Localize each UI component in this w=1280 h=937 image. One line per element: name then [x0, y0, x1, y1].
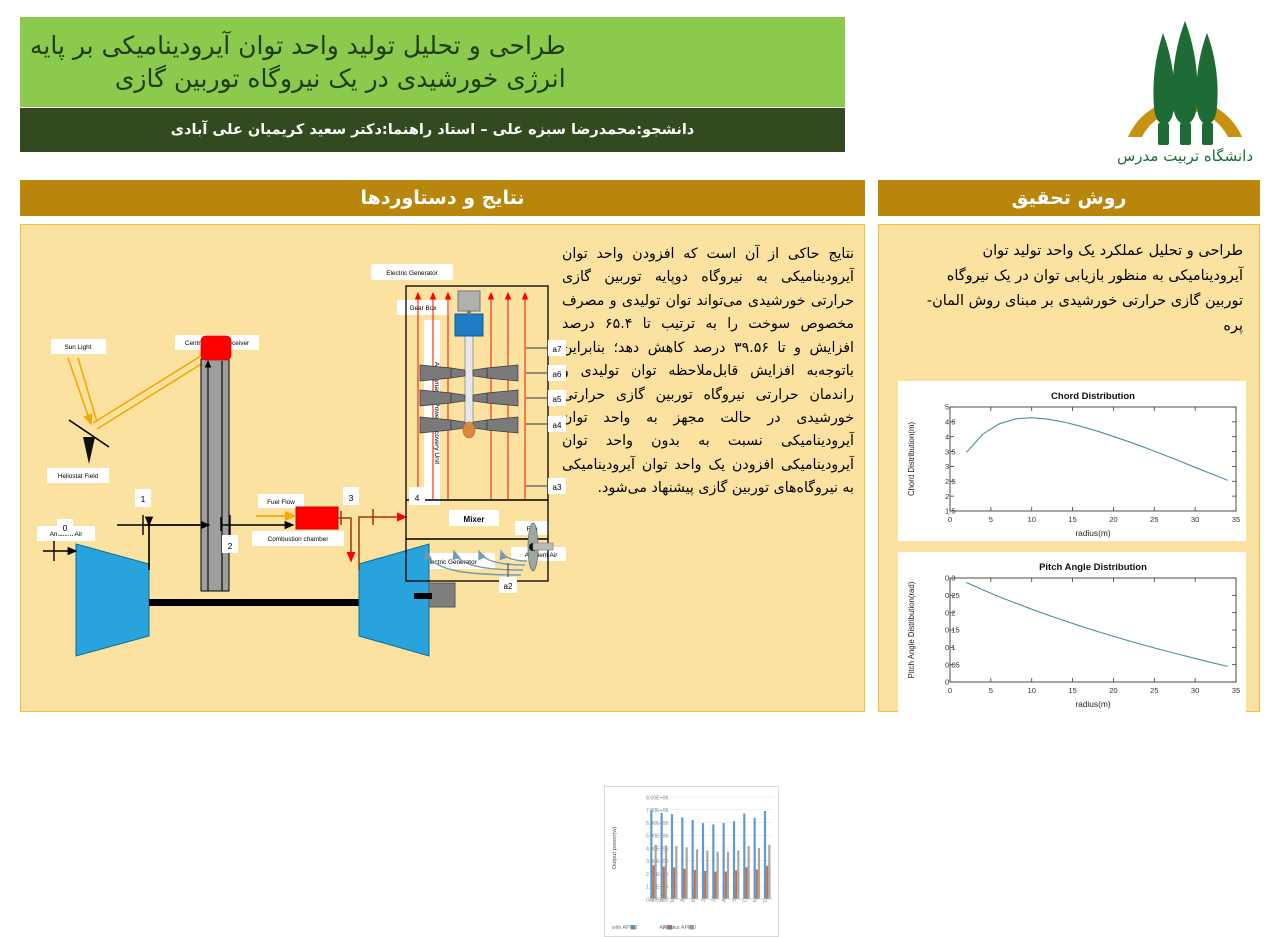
- turbine-block: [359, 544, 429, 656]
- schematic-label-fuel-flow: Fuel Flow: [267, 499, 295, 506]
- svg-pitch-xtick: 5: [989, 686, 993, 695]
- poster-title-line2: انرژی خورشیدی در یک نیروگاه توربین گازی: [30, 62, 566, 95]
- pitch-angle-distribution-chart: Pitch Angle Distribution0510152025303500…: [898, 552, 1246, 712]
- results-body-text: نتایج حاکی از آن است که افزودن واحد توان…: [562, 243, 854, 501]
- gear-box-block: [455, 314, 483, 336]
- bar-chart-bar: [655, 845, 657, 899]
- svg-chord-xtick: 20: [1109, 515, 1117, 524]
- bar-chart-xtick: Jan: [650, 894, 656, 902]
- university-logo: دانشگاه تربیت مدرس: [1100, 5, 1270, 170]
- logo-tulip-shapes: [1153, 21, 1217, 125]
- method-body-text: طراحی و تحلیل عملکرد یک واحد تولید توان …: [913, 239, 1243, 339]
- central-solar-receiver-block: [201, 336, 231, 360]
- bar-chart-bar: [706, 851, 708, 899]
- schematic-label-sun-light: Sun Light: [64, 344, 91, 351]
- bar-chart-bar: [686, 847, 688, 899]
- bar-chart-bar: [717, 852, 719, 899]
- svg-pitch-xtick: 20: [1109, 686, 1117, 695]
- svg-chord-title: Chord Distribution: [1051, 391, 1135, 402]
- bar-chart-xtick: Nov: [753, 893, 759, 902]
- schematic-label-electric-generator-top: Electric Generator: [386, 270, 438, 277]
- bar-chart-bar: [652, 865, 654, 899]
- svg-chord-ytick: 1.5: [945, 507, 956, 516]
- bar-chart-xtick: Jun: [701, 894, 707, 902]
- svg-pitch-xtick: 10: [1027, 686, 1035, 695]
- bar-chart-bar: [768, 845, 770, 899]
- bar-chart-ylabel: Output power(w): [612, 827, 618, 870]
- schematic-label-mixer: Mixer: [464, 515, 485, 524]
- solar-tower: [201, 359, 229, 591]
- bar-chart-bar: [758, 848, 760, 899]
- svg-chord-ylabel: Chord Distribution(m): [907, 422, 916, 496]
- bar-chart-xtick: May: [691, 892, 697, 902]
- bar-chart-bar: [714, 872, 716, 899]
- station-label-1: 1: [141, 494, 146, 504]
- monthly-output-power-chart: 0.00E+001.00E+062.00E+063.00E+064.00E+06…: [604, 786, 779, 937]
- bar-chart-bar: [692, 820, 694, 899]
- heliostat-mirror: [69, 420, 109, 464]
- bar-chart-bar: [712, 824, 714, 899]
- bar-chart-bar: [650, 810, 652, 899]
- bar-chart-bar: [733, 821, 735, 899]
- svg-pitch-ytick: 0: [945, 678, 949, 687]
- bar-chart-bar: [665, 845, 667, 899]
- bar-chart-xtick: Aug: [722, 893, 728, 902]
- station-label-3: 3: [349, 493, 354, 503]
- svg-pitch-ytick: 0.1: [945, 643, 956, 652]
- svg-chord-xtick: 25: [1150, 515, 1158, 524]
- logo-caption: دانشگاه تربیت مدرس: [1117, 147, 1253, 165]
- bar-chart-bar: [743, 814, 745, 899]
- turbine-shaft: [149, 599, 359, 606]
- svg-chord-xtick: 5: [989, 515, 993, 524]
- svg-chord-ytick: 3.5: [945, 447, 956, 456]
- svg-pitch-xtick: 30: [1191, 686, 1199, 695]
- electric-generator-box: [429, 583, 455, 607]
- bar-chart-bar: [737, 850, 739, 899]
- bar-chart-bar: [675, 846, 677, 899]
- bar-chart-xtick: Mar: [670, 893, 676, 902]
- bar-chart-legend-item: with APRU: [611, 925, 638, 931]
- bar-chart-xtick: Sep: [732, 893, 738, 902]
- poster-title: طراحی و تحلیل تولید واحد توان آیرودینامی…: [30, 29, 566, 95]
- svg-chord-xtick: 35: [1232, 515, 1240, 524]
- bar-chart-legend-item: without APRU: [662, 925, 696, 931]
- bar-chart-xtick: Oct: [743, 894, 749, 902]
- sun-ray-lines: [68, 346, 219, 429]
- svg-chord-xlabel: radius(m): [1075, 528, 1111, 538]
- svg-pitch-xtick: 15: [1068, 686, 1076, 695]
- svg-pitch-ytick: 0.25: [945, 591, 960, 600]
- svg-pitch-xtick: 0: [948, 686, 952, 695]
- station-label-0: 0: [63, 523, 68, 533]
- svg-chord-xtick: 15: [1068, 515, 1076, 524]
- air-station-label-a4: a4: [553, 421, 562, 430]
- bar-chart-bar: [723, 823, 725, 899]
- bar-chart-xtick: Dec: [763, 893, 769, 902]
- label-box-apru: Aerodynamic Power Recovery Unit: [424, 320, 440, 505]
- svg-chord-ytick: 4.5: [945, 418, 956, 427]
- svg-pitch-xlabel: radius(m): [1075, 699, 1111, 709]
- svg-pitch-ytick: 0.3: [945, 574, 956, 583]
- bar-chart-bar: [671, 814, 673, 899]
- bar-chart-bar: [681, 817, 683, 899]
- bar-chart-bar: [696, 849, 698, 899]
- svg-pitch-ytick: 0.05: [945, 660, 960, 669]
- svg-chord-ytick: 2.5: [945, 477, 956, 486]
- air-station-label-a7: a7: [553, 345, 562, 354]
- section-header-results: نتایج و دستاوردها: [20, 180, 865, 216]
- logo-stems: [1158, 123, 1213, 145]
- bar-chart-ytick: 8.00E+06: [646, 795, 668, 801]
- section-header-method: روش تحقیق: [878, 180, 1260, 216]
- combustion-chamber-block: [296, 507, 338, 529]
- bar-chart-xtick: Feb: [660, 893, 666, 902]
- bar-chart-ytick: 5.00E+06: [646, 834, 668, 840]
- air-station-label-a2: a2: [504, 582, 513, 591]
- station-label-4: 4: [415, 493, 420, 503]
- svg-pitch-ylabel: Pitch Angle Distribution(rad): [907, 581, 916, 678]
- section-header-method-label: روش تحقیق: [1012, 187, 1127, 209]
- svg-chord-ytick: 4: [945, 432, 949, 441]
- bar-chart-bar: [764, 811, 766, 899]
- poster-root: طراحی و تحلیل تولید واحد توان آیرودینامی…: [0, 0, 1280, 720]
- svg-pitch-ytick: 0.2: [945, 608, 956, 617]
- air-station-label-a3: a3: [553, 483, 562, 492]
- poster-title-band: طراحی و تحلیل تولید واحد توان آیرودینامی…: [20, 17, 845, 107]
- svg-pitch-ytick: 0.15: [945, 626, 960, 635]
- results-panel: نتایج حاکی از آن است که افزودن واحد توان…: [20, 224, 865, 712]
- schematic-label-heliostat-field: Heliostat Field: [58, 473, 99, 480]
- air-station-label-a5: a5: [553, 395, 562, 404]
- bar-chart-bar: [727, 852, 729, 899]
- svg-pitch-title: Pitch Angle Distribution: [1039, 562, 1147, 573]
- section-header-results-label: نتایج و دستاوردها: [360, 187, 524, 209]
- bar-chart-bar: [661, 813, 663, 899]
- station-label-2: 2: [228, 541, 233, 551]
- bar-chart-xtick: Apr: [680, 894, 686, 902]
- svg-chord-ytick: 2: [945, 492, 949, 501]
- bar-chart-ytick: 7.00E+06: [646, 808, 668, 814]
- svg-chord-xtick: 0: [948, 515, 952, 524]
- bar-chart-bar: [748, 846, 750, 899]
- svg-chord-ytick: 3: [945, 462, 949, 471]
- bar-chart-bar: [702, 823, 704, 899]
- poster-author-band: دانشجو:محمدرضا سبزه علی – استاد راهنما:د…: [20, 108, 845, 152]
- svg-chord-xtick: 10: [1027, 515, 1035, 524]
- compressor-block: [76, 544, 149, 656]
- schematic-label-combustion-chamber: Combustion chamber: [268, 536, 330, 543]
- generator-block-top: [458, 291, 480, 311]
- svg-chord-xtick: 30: [1191, 515, 1199, 524]
- svg-chord-ytick: 5: [945, 403, 949, 412]
- plant-schematic-diagram: Sun Light Central Solar Receiver Heliost…: [21, 225, 566, 711]
- poster-authors: دانشجو:محمدرضا سبزه علی – استاد راهنما:د…: [171, 122, 695, 138]
- svg-pitch-xtick: 25: [1150, 686, 1158, 695]
- air-station-label-a6: a6: [553, 370, 562, 379]
- bar-chart-bar: [754, 818, 756, 899]
- bar-chart-ytick: 6.00E+06: [646, 821, 668, 827]
- poster-title-line1: طراحی و تحلیل تولید واحد توان آیرودینامی…: [30, 29, 566, 62]
- svg-pitch-xtick: 35: [1232, 686, 1240, 695]
- chord-distribution-chart: Chord Distribution051015202530351.522.53…: [898, 381, 1246, 541]
